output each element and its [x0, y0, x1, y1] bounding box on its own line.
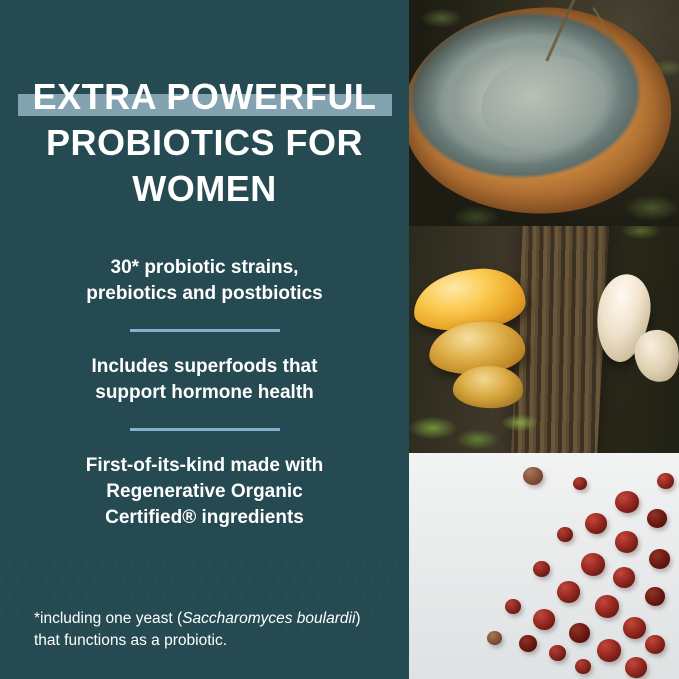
bullet-item-2: Includes superfoods that support hormone…	[0, 354, 409, 406]
berry	[557, 581, 580, 603]
shelf-fungi-photo	[409, 226, 679, 453]
berry	[505, 599, 521, 614]
berry	[523, 467, 543, 485]
photo-column	[409, 0, 679, 679]
bullet-list: 30* probiotic strains, prebiotics and po…	[0, 255, 409, 531]
bullet-1-line-1: 30* probiotic strains,	[42, 255, 367, 281]
berry	[585, 513, 607, 534]
bullet-divider-1	[130, 329, 280, 332]
headline-line-3: WOMEN	[0, 166, 409, 212]
bullet-3-line-1: First-of-its-kind made with	[42, 453, 367, 479]
berry	[573, 477, 587, 490]
product-infographic: EXTRA POWERFUL PROBIOTICS FOR WOMEN 30* …	[0, 0, 679, 679]
berry	[625, 657, 647, 678]
berry	[595, 595, 619, 618]
bullet-3-line-2: Regenerative Organic	[42, 479, 367, 505]
bullet-3-line-3: Certified® ingredients	[42, 505, 367, 531]
berry	[615, 531, 638, 553]
dried-berries-photo	[409, 453, 679, 679]
bullet-2-line-1: Includes superfoods that	[42, 354, 367, 380]
berry	[569, 623, 590, 643]
berry	[575, 659, 591, 674]
headline: EXTRA POWERFUL PROBIOTICS FOR WOMEN	[0, 74, 409, 212]
berry	[645, 635, 665, 654]
berry	[649, 549, 670, 569]
footnote: *including one yeast (Saccharomyces boul…	[34, 608, 374, 652]
bullet-item-3: First-of-its-kind made with Regenerative…	[0, 453, 409, 531]
headline-line-1: EXTRA POWERFUL	[0, 74, 409, 120]
berry	[615, 491, 639, 513]
berry	[647, 509, 667, 528]
reishi-mushroom-photo	[409, 0, 679, 226]
photo2-green-foliage	[409, 402, 541, 453]
berry	[533, 609, 555, 630]
berry	[581, 553, 605, 576]
berry	[645, 587, 665, 606]
berry	[487, 631, 502, 645]
left-text-panel: EXTRA POWERFUL PROBIOTICS FOR WOMEN 30* …	[0, 0, 409, 679]
footnote-prefix: *including one yeast (	[34, 610, 182, 627]
berry	[519, 635, 537, 652]
berry	[657, 473, 674, 489]
berry	[597, 639, 621, 662]
footnote-italic-species: Saccharomyces boulardii	[182, 610, 355, 627]
bullet-divider-2	[130, 428, 280, 431]
bullet-1-line-2: prebiotics and postbiotics	[42, 281, 367, 307]
berry	[549, 645, 566, 661]
berry	[533, 561, 550, 577]
bullet-item-1: 30* probiotic strains, prebiotics and po…	[0, 255, 409, 307]
berry	[557, 527, 573, 542]
berry	[613, 567, 635, 588]
bullet-2-line-2: support hormone health	[42, 380, 367, 406]
headline-line-2: PROBIOTICS FOR	[0, 120, 409, 166]
berry	[623, 617, 646, 639]
